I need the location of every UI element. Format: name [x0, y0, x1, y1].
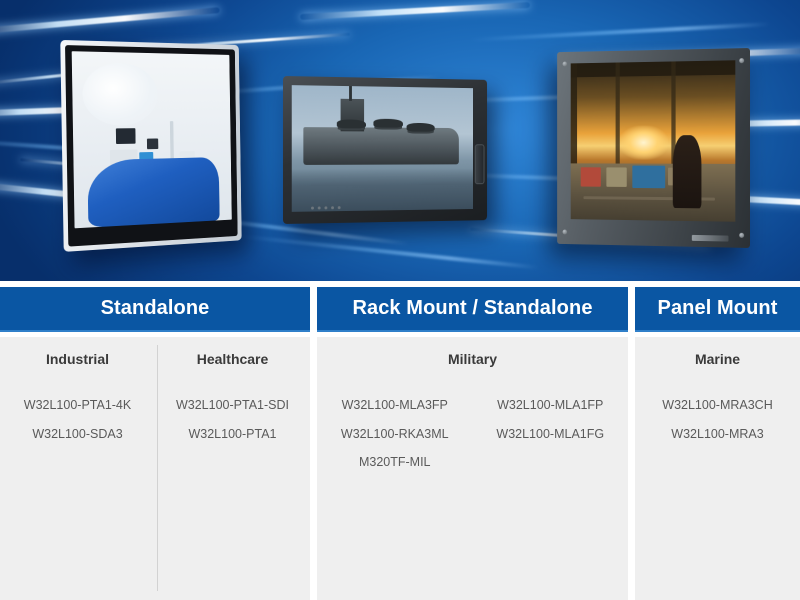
sku-column-marine: W32L100-MRA3CH W32L100-MRA3 [635, 399, 800, 440]
subcategory-industrial[interactable]: Industrial [0, 337, 155, 381]
subcategory-industrial-label: Industrial [46, 351, 109, 367]
sku-item[interactable]: W32L100-MLA1FG [496, 428, 604, 441]
category-panel-rack-mount-standalone: Military W32L100-MLA3FP W32L100-RKA3ML M… [317, 337, 628, 600]
bridge-operator [673, 135, 701, 209]
category-header-panel-mount-label: Panel Mount [658, 297, 778, 320]
military-monitor [283, 76, 487, 224]
marine-screen-image [571, 60, 736, 221]
product-family-page: Standalone Rack Mount / Standalone Panel… [0, 0, 800, 600]
subcategory-row-rack-mount: Military [317, 337, 628, 381]
category-header-standalone[interactable]: Standalone [0, 287, 310, 332]
military-screen-image [292, 85, 473, 212]
category-header-row: Standalone Rack Mount / Standalone Panel… [0, 287, 800, 332]
marine-monitor [557, 48, 750, 248]
subcategory-marine-label: Marine [695, 351, 740, 367]
subcategory-healthcare[interactable]: Healthcare [155, 337, 310, 381]
category-header-standalone-label: Standalone [101, 297, 210, 320]
sku-item[interactable]: W32L100-MRA3CH [662, 399, 772, 412]
fighter-jet [406, 123, 434, 132]
sku-item[interactable]: W32L100-PTA1 [188, 428, 276, 441]
subcategory-row-panel-mount: Marine [635, 337, 800, 381]
sku-column-industrial: W32L100-PTA1-4K W32L100-SDA3 [0, 399, 155, 440]
sku-item[interactable]: W32L100-PTA1-SDI [176, 399, 289, 412]
subcategory-marine[interactable]: Marine [635, 337, 800, 381]
subcategory-row-standalone: Industrial Healthcare [0, 337, 310, 381]
fighter-jet [337, 120, 366, 129]
sku-area-standalone: W32L100-PTA1-4K W32L100-SDA3 W32L100-PTA… [0, 399, 310, 440]
healthcare-monitor-bezel [65, 45, 238, 247]
ocean-water [292, 168, 473, 212]
military-monitor-osd-buttons [311, 206, 341, 209]
sku-area-marine: W32L100-MRA3CH W32L100-MRA3 [635, 399, 800, 440]
healthcare-monitor [60, 40, 241, 252]
subcategory-healthcare-label: Healthcare [197, 351, 269, 367]
category-panel-panel-mount: Marine W32L100-MRA3CH W32L100-MRA3 [635, 337, 800, 600]
column-divider [157, 345, 158, 591]
sku-item[interactable]: M320TF-MIL [359, 456, 431, 469]
sku-item[interactable]: W32L100-MLA1FP [497, 399, 603, 412]
military-monitor-side-handle [475, 144, 485, 184]
subcategory-military-label: Military [448, 351, 497, 367]
sku-item[interactable]: W32L100-MLA3FP [342, 399, 448, 412]
category-header-panel-mount[interactable]: Panel Mount [635, 287, 800, 332]
operating-room-equipment [72, 51, 232, 228]
sku-column-military-left: W32L100-MLA3FP W32L100-RKA3ML M320TF-MIL [317, 399, 473, 469]
hero-banner [0, 0, 800, 281]
sku-item[interactable]: W32L100-PTA1-4K [24, 399, 131, 412]
mounting-screw [739, 233, 744, 238]
sku-column-healthcare: W32L100-PTA1-SDI W32L100-PTA1 [155, 399, 310, 440]
subcategory-military[interactable]: Military [317, 337, 628, 381]
sku-item[interactable]: W32L100-SDA3 [32, 428, 122, 441]
mounting-screw [563, 230, 568, 235]
aircraft-carrier [303, 127, 459, 165]
category-header-rack-mount-standalone-label: Rack Mount / Standalone [352, 297, 592, 320]
category-header-rack-mount-standalone[interactable]: Rack Mount / Standalone [317, 287, 628, 332]
mounting-screw [563, 62, 568, 67]
sku-item[interactable]: W32L100-RKA3ML [341, 428, 449, 441]
sku-item[interactable]: W32L100-MRA3 [671, 428, 763, 441]
bridge-console [571, 163, 736, 222]
category-panel-standalone: Industrial Healthcare W32L100-PTA1-4K W3… [0, 337, 310, 600]
healthcare-screen-image [72, 51, 232, 228]
mounting-screw [739, 58, 744, 63]
sku-column-military-right: W32L100-MLA1FP W32L100-MLA1FG [473, 399, 629, 469]
sku-area-military: W32L100-MLA3FP W32L100-RKA3ML M320TF-MIL… [317, 399, 628, 469]
marine-monitor-brand-plate [692, 235, 729, 242]
fighter-jet [374, 119, 403, 128]
